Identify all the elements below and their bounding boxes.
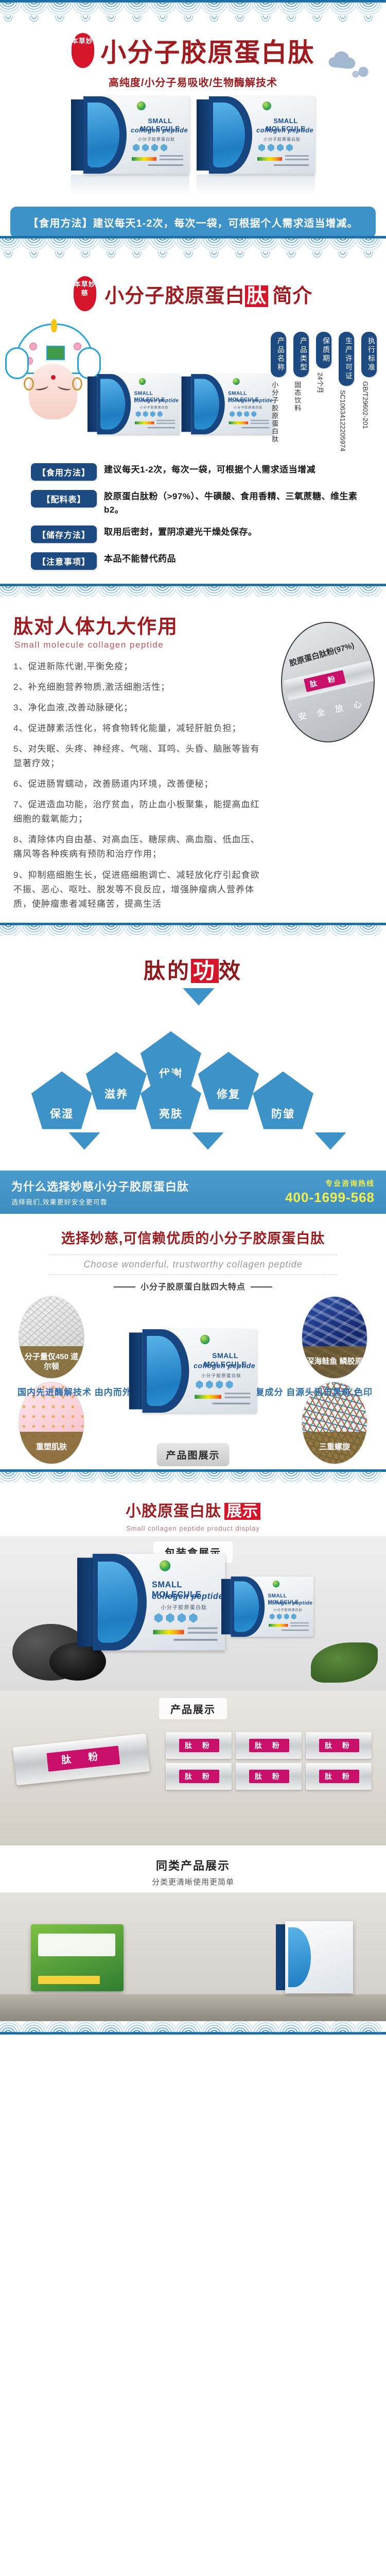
display-title: 小胶原蛋白肽展示 xyxy=(126,1498,260,1521)
info-rows: 【食用方法】 建议每天1-2次，每次一袋，可根据个人需求适当增减 【配料表】 胶… xyxy=(0,453,386,584)
info-row: 【食用方法】 建议每天1-2次，每次一袋，可根据个人需求适当增减 xyxy=(0,459,386,485)
brand-seal-text: 本草妙慈 xyxy=(74,280,96,297)
why-choose-strip: 为什么选择妙慈小分子胶原蛋白肽 选择我们,效果更好安全更可靠 专业咨询热线 40… xyxy=(0,1171,386,1214)
info-row: 【注意事项】 本品不能替代药品 xyxy=(0,548,386,574)
spec-column: 产品名称 小分子胶原蛋白肽 xyxy=(271,332,286,451)
opera-mask-illustration xyxy=(9,324,97,427)
cloud-ornament-icon xyxy=(326,49,373,80)
efficacy-title-post: 效 xyxy=(219,959,242,983)
info-row-text: 本品不能替代药品 xyxy=(104,552,176,566)
sachet-mini: 肽 粉 xyxy=(306,1763,372,1790)
spec-value: SC10634122205974 xyxy=(339,390,346,451)
list-item: 7、促进造血功能，治疗贫血，防止血小板聚集，能提高血红细胞的载氧能力； xyxy=(13,798,268,826)
wave-border-top xyxy=(0,0,386,25)
page-title: 小分子胶原蛋白肽 xyxy=(100,32,314,69)
intro-product-images: SMALL MOLECULE collogen peptide 小分子胶原蛋白肽… xyxy=(87,374,274,434)
brand-logo-icon xyxy=(262,101,271,110)
sachet-label: 肽 粉 xyxy=(46,1745,120,1771)
display-en-subtitle: Small collagen peptide product display xyxy=(0,1524,386,1532)
strip-subline: 选择我们,效果更好安全更可靠 xyxy=(11,1197,189,1207)
product-box-image: SMALL MOLECULE collogen peptide 小分子胶原蛋白肽 xyxy=(87,374,180,434)
intro-body: SMALL MOLECULE collogen peptide 小分子胶原蛋白肽… xyxy=(0,314,386,453)
spec-label: 保质期 xyxy=(316,332,331,368)
info-row-text: 胶原蛋白肽粉（>97%）、牛磺酸、食用香精、三氧蔗糖、维生素b2。 xyxy=(104,490,361,516)
intro-title-main: 小分子胶原蛋白 xyxy=(104,285,245,307)
info-row: 【配料表】 胶原蛋白肽粉（>97%）、牛磺酸、食用香精、三氧蔗糖、维生素b2。 xyxy=(0,485,386,521)
spec-label: 执行标准 xyxy=(361,332,377,377)
brand-seal-text: 本草妙慈 xyxy=(72,37,94,45)
sachet-mini: 肽 粉 xyxy=(166,1763,232,1790)
info-row-label: 【食用方法】 xyxy=(31,463,97,481)
hotline-label: 专业咨询热线 xyxy=(285,1178,375,1189)
sachet-mini: 肽 粉 xyxy=(236,1732,302,1759)
display-title-pre: 小胶原蛋白肽 xyxy=(126,1503,221,1520)
blue-product-box xyxy=(276,1921,353,1993)
arrow-row-bottom xyxy=(28,1132,358,1158)
wave-border-bottom xyxy=(0,2021,386,2035)
box-en-line2: collogen peptide xyxy=(268,1600,312,1606)
spec-column: 执行标准 GB/T29602-201 xyxy=(361,332,377,451)
sachet-label: 肽 粉 xyxy=(179,1739,219,1752)
shelf-surface xyxy=(0,1994,386,2021)
sachet-label: 肽 粉 xyxy=(179,1770,219,1783)
spec-value: GB/T29602-201 xyxy=(361,381,369,429)
intro-heading: 本草妙慈 小分子胶原蛋白肽简介 xyxy=(0,261,386,314)
feature-oval-caption: 三重螺旋 xyxy=(302,1432,367,1464)
pentagon-item: 防皱 xyxy=(253,1072,313,1129)
sachet-mini: 肽 粉 xyxy=(236,1763,302,1790)
list-item: 9、抑制癌细胞生长，促进癌细胞调亡、减轻放化疗引起食欲不振、恶心、呕吐、脱发等不… xyxy=(13,868,268,911)
sachet-label: 肽 粉 xyxy=(319,1770,359,1783)
spec-value: 24个月 xyxy=(316,372,323,393)
pentagon-item: 修复 xyxy=(198,1052,259,1110)
features-title: 选择妙慈,可信赖优质的小分子胶原蛋白肽 xyxy=(0,1227,386,1247)
box-en-line2: collogen peptide xyxy=(131,126,188,134)
efficacy-title-highlight: 功 xyxy=(191,959,219,983)
wave-divider-4 xyxy=(0,1469,386,1483)
box-cn-line: 小分子胶原蛋白肽 xyxy=(138,137,175,142)
product-box-image: SMALL MOLECULE collogen peptide 小分子胶原蛋白肽 xyxy=(71,96,189,174)
spec-label: 产品类型 xyxy=(293,332,309,377)
list-item: 2、补充细胞营养物质,激活细胞活性； xyxy=(13,680,268,694)
info-row-label: 【储存方法】 xyxy=(31,526,97,543)
product-photo: 产品展示 肽 粉 肽 粉 肽 粉 肽 粉 肽 粉 肽 粉 肽 粉 xyxy=(0,1691,386,1845)
spec-label: 产品名称 xyxy=(271,332,286,377)
sachet-pack-label: 肽 粉 xyxy=(304,670,346,692)
intro-title-highlight: 肽 xyxy=(245,285,268,307)
arrow-row-top xyxy=(28,988,358,1014)
box-en-line2: collogen peptide xyxy=(134,397,179,403)
leaf-prop xyxy=(311,1642,378,1683)
product-box-image: SMALL MOLECULE collogen peptide 小分子胶原蛋白肽 xyxy=(197,96,315,174)
display-title-highlight: 展示 xyxy=(224,1503,260,1520)
sachet-label: 肽 粉 xyxy=(249,1770,289,1783)
list-item: 3、净化血液,改善动脉硬化； xyxy=(13,701,268,715)
spec-label: 生产许可证 xyxy=(339,332,354,386)
green-product-box xyxy=(31,1924,124,1991)
list-item: 5、对失眠、头疼、神经疼、气喘、耳鸣、头昏、脑胀等皆有显著疗效； xyxy=(13,742,268,771)
brand-seal: 本草妙慈 xyxy=(74,276,96,311)
box-cn-line: 小分子胶原蛋白肽 xyxy=(234,405,262,410)
sachet-bottom-label: 安 全 放 心 xyxy=(297,696,366,722)
sachet-large: 肽 粉 xyxy=(13,1733,150,1785)
brand-seal: 本草妙慈 xyxy=(72,33,94,68)
info-row: 【储存方法】 取用后密封，置阴凉避光干燥处保存。 xyxy=(0,521,386,548)
feature-oval: 分子量仅450 道尔顿 xyxy=(19,1296,84,1379)
info-row-label: 【配料表】 xyxy=(31,490,97,507)
brand-logo-icon xyxy=(137,101,146,110)
pentagon-cluster: 保湿 滋养 代谢 亮肤 修复 防皱 xyxy=(28,1031,358,1129)
box-en-line2: collogen peptide xyxy=(152,1591,223,1601)
pentagon-item: 保湿 xyxy=(31,1072,92,1129)
pentagon-item: 滋养 xyxy=(86,1052,147,1110)
strip-headline: 为什么选择妙慈小分子胶原蛋白肽 xyxy=(11,1178,189,1194)
list-item: 8、清除体内自由基、对高血压、糖尿病、高血脂、低血压、痛风等各种疾病有预防和治疗… xyxy=(13,833,268,861)
spec-value: 小分子胶原蛋白肽 xyxy=(271,381,278,443)
sachet-grid: 肽 粉 肽 粉 肽 粉 肽 粉 肽 粉 肽 粉 xyxy=(166,1732,377,1790)
features-en-subtitle: Choose wonderful, trustworthy collagen p… xyxy=(49,1255,337,1275)
box-en-line2: collogen peptide xyxy=(228,397,273,403)
center-product-image: SMALL MOLECULE collogen peptide 小分子胶原蛋白肽 xyxy=(129,1329,257,1413)
product-box-image: SMALL MOLECULE collogen peptide 小分子胶原蛋白肽 xyxy=(221,1577,313,1637)
info-row-text: 建议每天1-2次，每次一袋，可根据个人需求适当增减 xyxy=(104,463,315,477)
spec-column: 生产许可证 SC10634122205974 xyxy=(339,332,354,451)
list-item: 4、促进酵素活性化，将食物转化能量，减轻肝脏负担； xyxy=(13,721,268,736)
product-box-image: SMALL MOLECULE collogen peptide 小分子胶原蛋白肽 xyxy=(182,374,274,434)
efficacy-section: 肽的功效 保湿 滋养 代谢 亮肤 修复 防皱 xyxy=(0,936,386,1171)
features-sub: 小分子胶原蛋白肽四大特点 xyxy=(0,1280,386,1292)
photo-caption: 产品展示 xyxy=(159,1698,227,1719)
sachet-mini: 肽 粉 xyxy=(306,1732,372,1759)
sachet-label: 肽 粉 xyxy=(319,1739,359,1752)
box-cn-line: 小分子胶原蛋白肽 xyxy=(273,1607,302,1612)
feature-oval: 深海鲑鱼 鳞胶原 xyxy=(302,1296,367,1379)
box-cn-line: 小分子胶原蛋白肽 xyxy=(139,405,168,410)
intro-section: 本草妙慈 小分子胶原蛋白肽简介 SMALL MOLECULE collogen … xyxy=(0,261,386,584)
spec-columns: 产品名称 小分子胶原蛋白肽 产品类型 固态饮料 保质期 24个月 生产许可证 S… xyxy=(271,332,377,451)
features-grid: 分子量仅450 道尔顿 深海鲑鱼 鳞胶原 重塑肌肤 三重螺旋 国内先进酶解技术 … xyxy=(0,1294,386,1464)
sachet-photo: 胶原蛋白肽粉(97%) 肽 粉 安 全 放 心 xyxy=(281,622,375,742)
similar-title: 同类产品展示 xyxy=(0,1857,386,1873)
list-item: 1、促进新陈代谢,平衡免疫； xyxy=(13,659,268,674)
similar-products-photo xyxy=(0,1892,386,2021)
efficacy-title: 肽的功效 xyxy=(144,954,242,985)
sachet-top-label: 胶原蛋白肽粉(97%) xyxy=(288,639,356,668)
hotline-number[interactable]: 400-1699-568 xyxy=(285,1190,375,1206)
box-cn-line: 小分子胶原蛋白肽 xyxy=(201,1372,241,1379)
sachet-mini: 肽 粉 xyxy=(166,1732,232,1759)
box-en-line2: collogen peptide xyxy=(256,126,313,134)
efficacy-title-pre: 肽的 xyxy=(144,959,191,983)
box-cn-line: 小分子胶原蛋白肽 xyxy=(264,137,301,142)
intro-title-tail: 简介 xyxy=(272,285,312,307)
info-row-label: 【注意事项】 xyxy=(31,552,97,570)
product-box-image: SMALL MOLECULE collogen peptide 小分子胶原蛋白肽 xyxy=(129,1329,257,1413)
box-en-line2: collogen peptide xyxy=(194,1361,255,1369)
wave-divider-3 xyxy=(0,923,386,936)
nine-effects-section: 肽对人体九大作用 Small molecule collagen peptide… xyxy=(0,597,386,923)
feature-oval-caption: 重塑肌肤 xyxy=(19,1432,84,1464)
product-box-image: SMALL MOLECULE collogen peptide 小分子胶原蛋白肽 xyxy=(77,1554,225,1651)
usage-callout-banner: 【食用方法】建议每天1-2次，每次一袋，可根据个人需求适当增减。 xyxy=(10,207,376,238)
spec-value: 固态饮料 xyxy=(293,381,301,412)
spec-column: 保质期 24个月 xyxy=(316,332,331,451)
similar-subtitle: 分类更清晰使用更简单 xyxy=(0,1876,386,1887)
spec-column: 产品类型 固态饮料 xyxy=(293,332,309,451)
list-item: 6、促进肠胃蠕动，改善肠道内环境，改善便秘； xyxy=(13,777,268,791)
sachet-label: 肽 粉 xyxy=(249,1739,289,1752)
packaging-photo: 包装盒展示 SMALL MOLECULE collogen peptide 小分… xyxy=(0,1536,386,1691)
product-detail-page: 本草妙慈 小分子胶原蛋白肽 高纯度/小分子易吸收/生物酶解技术 SMALL MO… xyxy=(0,0,386,2035)
info-row-text: 取用后密封，置阴凉避光干燥处保存。 xyxy=(104,526,257,539)
hero-product-images: SMALL MOLECULE collogen peptide 小分子胶原蛋白肽… xyxy=(0,96,386,195)
scallop-row xyxy=(0,2,381,25)
display-heading: 小胶原蛋白肽展示 Small collagen peptide product … xyxy=(0,1483,386,1536)
wave-divider-1 xyxy=(0,236,386,261)
wave-divider-2 xyxy=(0,584,386,597)
feature-oval-caption: 深海鲑鱼 鳞胶原 xyxy=(302,1346,367,1378)
feature-oval-caption: 分子量仅450 道尔顿 xyxy=(19,1346,84,1378)
features-sub-text: 小分子胶原蛋白肽四大特点 xyxy=(141,1283,245,1292)
product-image-tag: 产品图展示 xyxy=(156,1443,229,1466)
similar-heading: 同类产品展示 分类更清晰使用更简单 xyxy=(0,1845,386,1892)
intro-title: 小分子胶原蛋白肽简介 xyxy=(104,280,312,308)
hero-section: 本草妙慈 小分子胶原蛋白肽 高纯度/小分子易吸收/生物酶解技术 SMALL MO… xyxy=(0,25,386,223)
features-section: 选择妙慈,可信赖优质的小分子胶原蛋白肽 Choose wonderful, tr… xyxy=(0,1214,386,1469)
box-cn-line: 小分子胶原蛋白肽 xyxy=(161,1604,207,1611)
